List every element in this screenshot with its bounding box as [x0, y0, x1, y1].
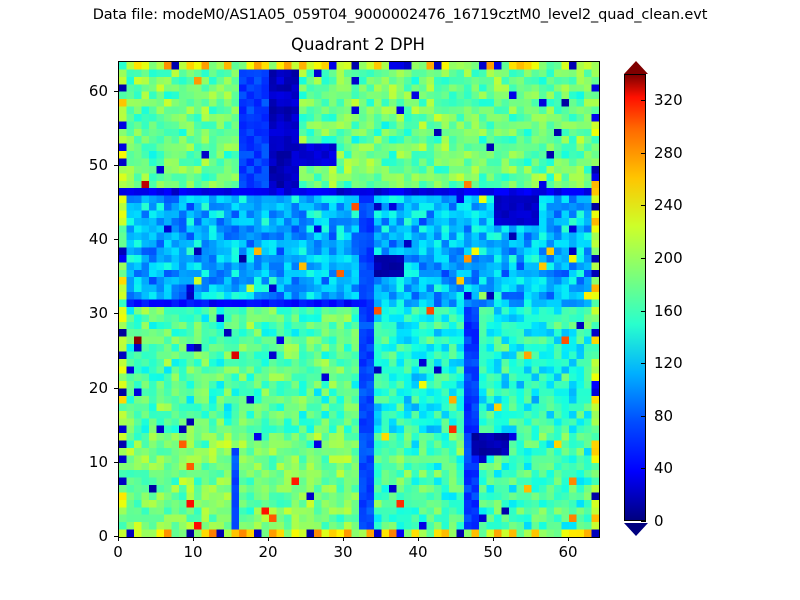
- colorbar-tick-mark: [641, 205, 646, 206]
- x-tick-mark: [418, 537, 419, 541]
- page-title: Quadrant 2 DPH: [118, 35, 598, 54]
- y-tick-label: 30: [56, 304, 108, 322]
- x-tick-mark: [493, 537, 494, 541]
- x-tick-label: 0: [113, 543, 123, 561]
- x-tick-label: 50: [483, 543, 502, 561]
- x-tick-mark: [568, 537, 569, 541]
- y-tick-mark: [114, 239, 118, 240]
- colorbar-extend-top-arrow: [624, 61, 648, 74]
- colorbar-tick-mark: [641, 153, 646, 154]
- y-tick-mark: [114, 165, 118, 166]
- y-tick-label: 0: [56, 527, 108, 545]
- colorbar-gradient: [624, 74, 646, 521]
- colorbar-tick-mark: [641, 258, 646, 259]
- colorbar-tick-label: 0: [654, 512, 664, 530]
- colorbar-extend-bottom-arrow: [624, 523, 648, 536]
- data-file-label: Data file: modeM0/AS1A05_059T04_90000024…: [0, 7, 800, 23]
- y-tick-label: 60: [56, 82, 108, 100]
- colorbar-tick-label: 240: [654, 196, 683, 214]
- x-tick-label: 60: [558, 543, 577, 561]
- colorbar-tick-mark: [641, 521, 646, 522]
- colorbar-tick-label: 40: [654, 459, 673, 477]
- colorbar-tick-label: 80: [654, 407, 673, 425]
- heatmap-image[interactable]: [119, 62, 599, 537]
- colorbar-tick-label: 160: [654, 302, 683, 320]
- colorbar-tick-label: 280: [654, 144, 683, 162]
- colorbar-tick-mark: [641, 311, 646, 312]
- y-tick-label: 20: [56, 379, 108, 397]
- y-tick-label: 40: [56, 230, 108, 248]
- y-tick-mark: [114, 91, 118, 92]
- y-tick-mark: [114, 313, 118, 314]
- colorbar-tick-mark: [641, 363, 646, 364]
- y-tick-mark: [114, 388, 118, 389]
- x-tick-label: 30: [333, 543, 352, 561]
- y-tick-label: 10: [56, 453, 108, 471]
- colorbar-tick-mark: [641, 416, 646, 417]
- x-tick-mark: [343, 537, 344, 541]
- x-tick-mark: [118, 537, 119, 541]
- colorbar-tick-mark: [641, 100, 646, 101]
- y-tick-mark: [114, 536, 118, 537]
- x-tick-label: 40: [408, 543, 427, 561]
- colorbar-tick-mark: [641, 468, 646, 469]
- x-tick-label: 10: [183, 543, 202, 561]
- x-tick-mark: [268, 537, 269, 541]
- colorbar-tick-label: 320: [654, 91, 683, 109]
- colorbar-tick-label: 200: [654, 249, 683, 267]
- y-tick-label: 50: [56, 156, 108, 174]
- colorbar[interactable]: 04080120160200240280320: [624, 61, 648, 536]
- y-tick-mark: [114, 462, 118, 463]
- x-tick-mark: [193, 537, 194, 541]
- colorbar-tick-label: 120: [654, 354, 683, 372]
- x-tick-label: 20: [258, 543, 277, 561]
- heatmap-axes[interactable]: [118, 61, 600, 538]
